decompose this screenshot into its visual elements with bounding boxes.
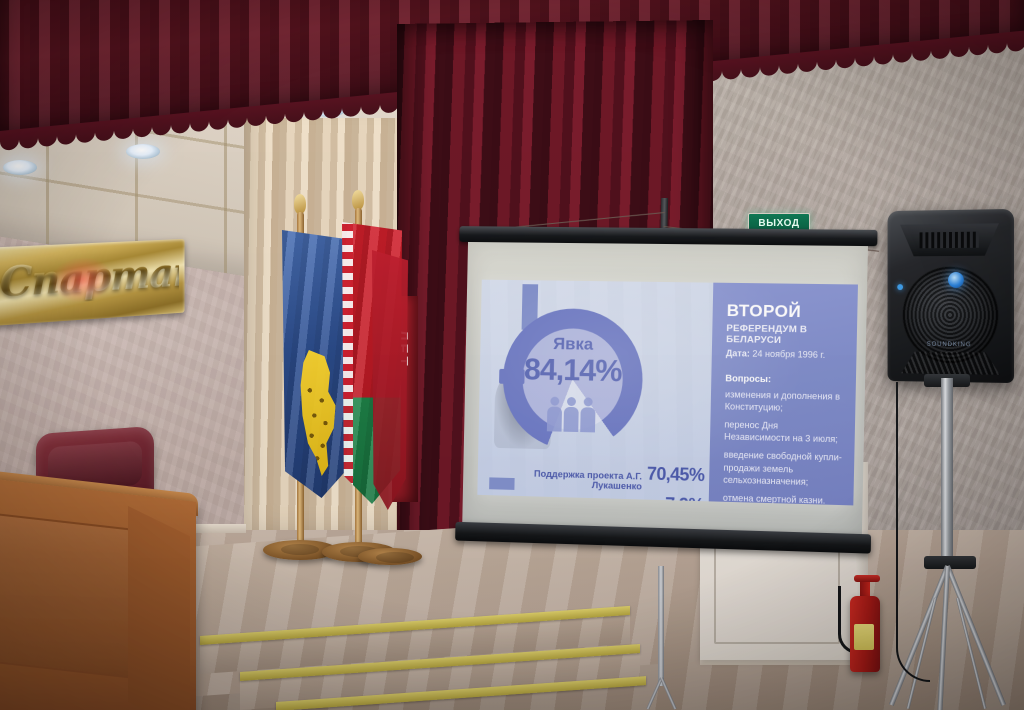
fire-extinguisher (850, 596, 880, 672)
stat-label: Поддержка проекта А.Г. Лукашенко (485, 467, 642, 491)
speaker-brand-label: SOUNDKING (921, 342, 978, 349)
stat-value: 70,45% (647, 464, 705, 487)
pa-speaker: SOUNDKING (888, 209, 1014, 383)
questions-header: Вопросы: (725, 373, 846, 385)
slide-date-label: Дата: (726, 348, 750, 358)
slide-statistics: Поддержка проекта А.Г. Лукашенко 70,45% … (485, 459, 705, 505)
extinguisher-label (854, 624, 874, 650)
speaker-stand-pole (941, 378, 953, 568)
flag-finial (294, 194, 306, 214)
slide-subtitle: РЕФЕРЕНДУМ В БЕЛАРУСИ (726, 323, 847, 347)
flag-ornament-stripe (342, 222, 353, 504)
projection-screen[interactable]: Явка 84,14% Поддержка проекта А.Г. Лукаш… (453, 226, 878, 575)
screen-tripod-pole (658, 566, 664, 686)
exit-sign-text: ВЫХОД (758, 218, 799, 229)
extinguisher-handle (854, 575, 880, 582)
stat-row: Поддержка проекта А.Г. Лукашенко 70,45% (485, 459, 704, 493)
slide-text-panel: ВТОРОЙ РЕФЕРЕНДУМ В БЕЛАРУСИ Дата: 24 но… (709, 283, 858, 506)
slide-date-value: 24 ноября 1996 г. (752, 348, 825, 359)
slide-title: ВТОРОЙ (727, 302, 848, 322)
question-item: изменения и дополнения в Конституцию; (725, 388, 846, 416)
slide-date: Дата: 24 ноября 1996 г. (726, 348, 847, 360)
third-flag-cloth (372, 250, 408, 510)
speaker-status-led (897, 284, 903, 290)
speaker-horn (900, 223, 999, 256)
speaker-vent (901, 351, 1000, 374)
ceiling-downlight (3, 160, 37, 175)
presentation-slide: Явка 84,14% Поддержка проекта А.Г. Лукаш… (477, 280, 858, 506)
screen-surface: Явка 84,14% Поддержка проекта А.Г. Лукаш… (462, 242, 868, 536)
speaker-power-led (948, 272, 964, 288)
conference-hall-photo: Спартак ЛЕТ ВЫХОД (0, 0, 1024, 710)
turnout-donut-chart: Явка 84,14% (502, 308, 644, 452)
question-item: введение свободной купли-продажи земель … (723, 449, 844, 490)
stat-value: 7,9% (665, 494, 704, 505)
flag-finial (352, 190, 364, 210)
question-item: перенос Дня Независимости на 3 июля; (724, 418, 845, 446)
people-icon (547, 394, 599, 433)
turnout-value: 84,14% (503, 351, 643, 389)
question-item: отмена смертной казни. (723, 491, 844, 505)
flag-base (358, 548, 422, 565)
ceiling-downlight (126, 144, 160, 159)
podium-side-panel (128, 506, 190, 710)
stat-label: Проект Верховного Совета (536, 499, 660, 506)
spartak-wall-sign: Спартак (0, 239, 185, 326)
speaker-cable (896, 382, 930, 682)
